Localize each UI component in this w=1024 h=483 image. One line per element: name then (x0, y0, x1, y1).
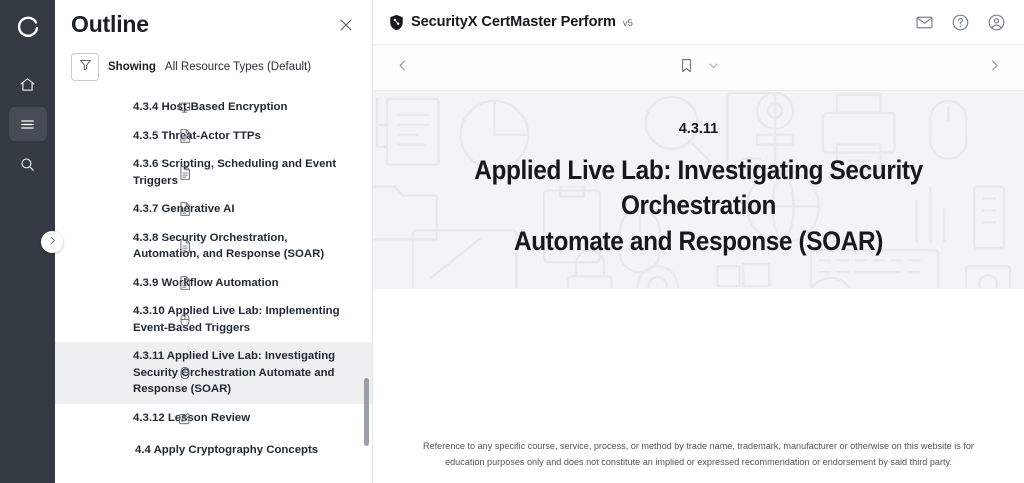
close-outline-button[interactable] (334, 15, 358, 39)
mail-icon[interactable] (915, 13, 934, 32)
filter-value[interactable]: All Resource Types (Default) (165, 61, 311, 73)
outline-item-label: 4.3.6 Scripting, Scheduling and Event Tr… (113, 156, 356, 189)
page-title: Outline (71, 12, 149, 37)
outline-section-header[interactable]: 4.4 Apply Cryptography Concepts (55, 432, 372, 464)
lesson-hero-banner: 4.3.11 Applied Live Lab: Investigating S… (373, 91, 1024, 289)
bookmark-dropdown-button[interactable] (707, 59, 720, 77)
outline-item-label: 4.3.4 Host-Based Encryption (113, 99, 287, 116)
outline-item[interactable]: 4.3.5 Threat-Actor TTPs (55, 122, 372, 151)
version-label: v5 (623, 18, 633, 29)
main-content: SecurityX CertMaster Perform v5 (373, 0, 1024, 483)
rail-item-outline[interactable] (9, 107, 47, 141)
filter-showing-label: Showing (108, 61, 156, 73)
lesson-navigation-bar (373, 45, 1024, 91)
topbar-actions (915, 13, 1006, 32)
top-bar: SecurityX CertMaster Perform v5 (373, 0, 1024, 45)
outline-item[interactable]: 4.3.4 Host-Based Encryption (55, 93, 372, 122)
sidebar-collapse-handle[interactable] (41, 231, 63, 253)
outline-item-label: 4.3.11 Applied Live Lab: Investigating S… (113, 348, 356, 398)
outline-item-selected[interactable]: 4.3.11 Applied Live Lab: Investigating S… (55, 342, 372, 404)
filter-button[interactable] (71, 53, 99, 81)
outline-scrollbar-thumb[interactable] (364, 378, 369, 446)
home-icon (19, 76, 36, 93)
bookmark-control (678, 57, 720, 79)
app-logo[interactable] (11, 11, 45, 45)
bookmark-icon (678, 57, 695, 79)
outline-item-label: 4.3.7 Generative AI (113, 201, 235, 218)
chevron-right-icon (47, 233, 58, 251)
previous-page-button[interactable] (395, 58, 410, 78)
lesson-number: 4.3.11 (679, 121, 719, 137)
outline-panel: Outline Showing All Resource Types (Defa… (55, 0, 373, 483)
edit-icon (178, 411, 191, 425)
shield-icon (389, 14, 404, 31)
chevron-left-icon (395, 58, 410, 78)
search-icon (19, 156, 36, 173)
outline-item[interactable]: 4.3.8 Security Orchestration, Automation… (55, 224, 372, 269)
lab-icon (178, 366, 191, 380)
close-icon (337, 16, 355, 39)
document-icon (178, 276, 191, 290)
chevron-down-icon (707, 59, 720, 77)
brand-name: SecurityX CertMaster Perform (411, 14, 616, 30)
app-root: Outline Showing All Resource Types (Defa… (0, 0, 1024, 483)
brand: SecurityX CertMaster Perform v5 (389, 14, 633, 31)
menu-icon (19, 116, 36, 133)
account-icon[interactable] (987, 13, 1006, 32)
filter-icon (78, 57, 93, 77)
rail-item-home[interactable] (9, 67, 47, 101)
outline-header: Outline (55, 0, 372, 39)
outline-item-label: 4.3.8 Security Orchestration, Automation… (113, 230, 356, 263)
bookmark-button[interactable] (678, 57, 695, 79)
document-icon (178, 202, 191, 216)
filter-row: Showing All Resource Types (Default) (55, 39, 372, 81)
document-icon (178, 129, 191, 143)
outline-scrollbar[interactable] (363, 93, 370, 483)
outline-item[interactable]: 4.3.12 Lesson Review (55, 404, 372, 433)
monitor-icon (178, 100, 191, 114)
outline-list[interactable]: 4.3.4 Host-Based Encryption4.3.5 Threat-… (55, 93, 372, 483)
next-page-button[interactable] (987, 58, 1002, 78)
outline-item-label: 4.3.9 Workflow Automation (113, 275, 279, 292)
chevron-right-icon (987, 58, 1002, 78)
lab-icon (178, 313, 191, 327)
outline-item-label: 4.3.10 Applied Live Lab: Implementing Ev… (113, 303, 356, 336)
disclaimer-text: Reference to any specific course, servic… (373, 439, 1024, 470)
document-icon (178, 166, 191, 180)
lesson-title: Applied Live Lab: Investigating Security… (399, 153, 998, 260)
outline-item[interactable]: 4.3.9 Workflow Automation (55, 269, 372, 298)
outline-item[interactable]: 4.3.7 Generative AI (55, 195, 372, 224)
lesson-body: Reference to any specific course, servic… (373, 289, 1024, 483)
help-icon[interactable] (951, 13, 970, 32)
document-icon (178, 239, 191, 253)
outline-item[interactable]: 4.3.10 Applied Live Lab: Implementing Ev… (55, 297, 372, 342)
rail-item-search[interactable] (9, 147, 47, 181)
outline-item[interactable]: 4.3.6 Scripting, Scheduling and Event Tr… (55, 150, 372, 195)
